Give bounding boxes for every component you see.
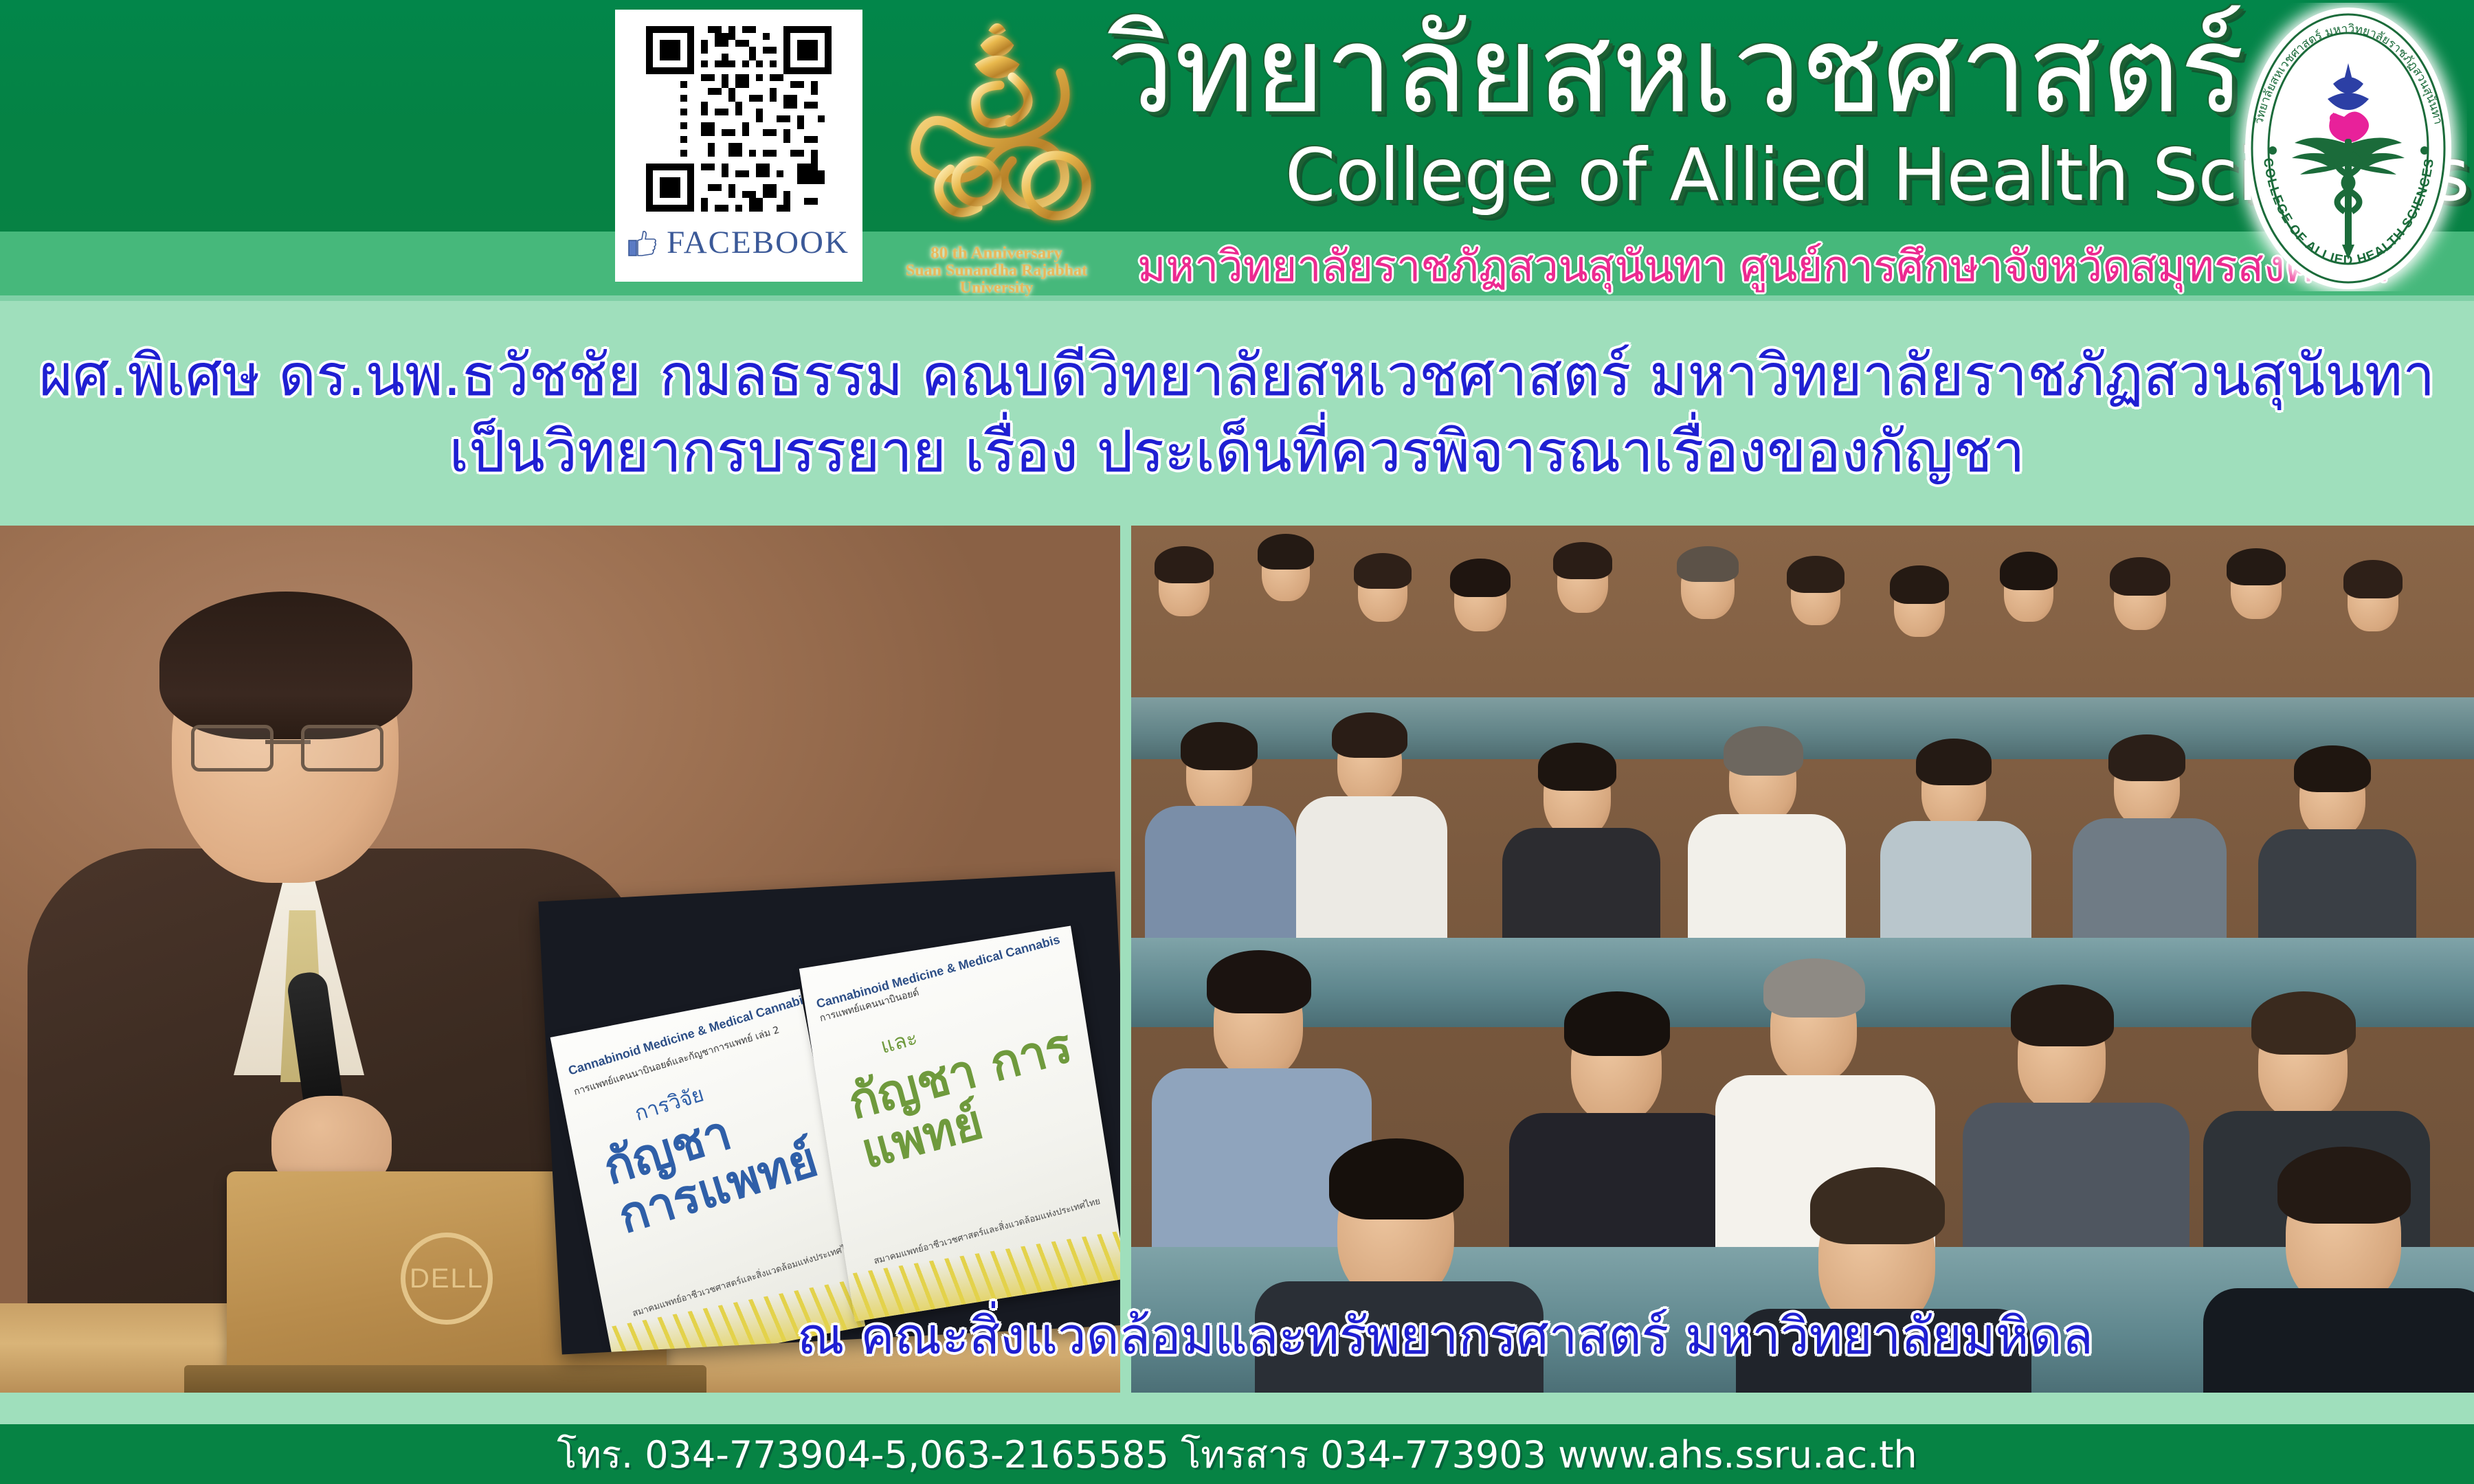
banner-title-thai: วิทยาลัยสหเวชศาสตร์: [1106, 7, 2220, 134]
banner-subtitle-thai: มหาวิทยาลัยราชภัฏสวนสุนันทา ศูนย์การศึกษ…: [1137, 244, 2209, 289]
footer-contact-text: โทร. 034-773904-5,063-2165585 โทรสาร 034…: [557, 1425, 1917, 1484]
headline-line-2: เป็นวิทยากรบรรยาย เรื่อง ประเด็นที่ควรพิ…: [449, 414, 2025, 490]
banner-title-english: College of Allied Health Sciences: [1285, 137, 2233, 213]
books-inset-photo: Cannabinoid Medicine & Medical Cannabis …: [538, 871, 1120, 1354]
poster-root: FACEBOOK: [0, 0, 2474, 1484]
laptop-base: [184, 1365, 706, 1393]
footer-mint-strip: [0, 1393, 2474, 1424]
book-english-title: Cannabinoid Medicine & Medical Cannabis: [815, 926, 1084, 1011]
anniversary-line1: 80 th Anniversary: [897, 245, 1096, 262]
headline-line-1: ผศ.พิเศษ ดร.นพ.ธวัชชัย กมลธรรม คณบดีวิทย…: [39, 337, 2436, 414]
qr-code-icon[interactable]: [639, 19, 838, 218]
anniversary-line2: Suan Sunandha Rajabhat University: [897, 262, 1096, 297]
speaker-photo: DELL Cannabinoid Medicine & Medical Cann…: [0, 526, 1120, 1393]
audience-photo: [1131, 526, 2474, 1393]
footer-bar: โทร. 034-773904-5,063-2165585 โทรสาร 034…: [0, 1424, 2474, 1484]
speaker-glasses: [191, 725, 383, 766]
banner-divider: [0, 295, 2474, 301]
speaker-hair: [159, 592, 412, 739]
headline-band: ผศ.พิเศษ ดร.นพ.ธวัชชัย กมลธรรม คณบดีวิทย…: [0, 301, 2474, 526]
anniversary-caption: 80 th Anniversary Suan Sunandha Rajabhat…: [897, 245, 1096, 297]
facebook-label: FACEBOOK: [667, 227, 849, 259]
laptop-brand-logo: DELL: [401, 1233, 493, 1325]
book-cover-cannabinoid: Cannabinoid Medicine & Medical Cannabis …: [799, 925, 1120, 1321]
facebook-qr-card[interactable]: FACEBOOK: [615, 10, 862, 282]
top-banner: FACEBOOK: [0, 0, 2474, 301]
college-seal-icon: วิทยาลัยสหเวชศาสตร์ มหาวิทยาลัยราชภัฏสวน…: [2230, 3, 2467, 291]
event-location-caption: ณ คณะสิ่งแวดล้อมและทรัพยากรศาสตร์ มหาวิท…: [797, 1309, 2392, 1364]
thumbs-up-icon: [628, 229, 657, 257]
anniversary-logo: 80 th Anniversary Suan Sunandha Rajabhat…: [897, 5, 1096, 293]
college-seal: วิทยาลัยสหเวชศาสตร์ มหาวิทยาลัยราชภัฏสวน…: [2230, 3, 2467, 291]
photo-area: DELL Cannabinoid Medicine & Medical Cann…: [0, 526, 2474, 1393]
anniversary-emblem-icon: [897, 5, 1096, 253]
facebook-row[interactable]: FACEBOOK: [628, 227, 849, 259]
